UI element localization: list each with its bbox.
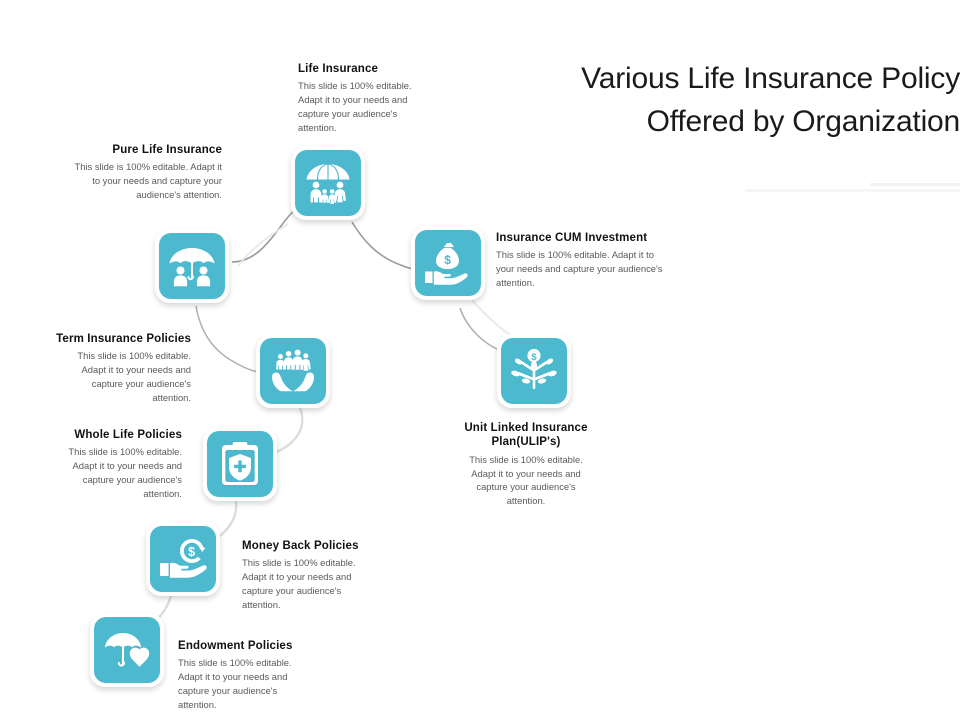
node-body-money-back-policies: This slide is 100% editable. Adapt it to… bbox=[242, 556, 382, 611]
node-body-unit-linked-insurance-plan: This slide is 100% editable. Adapt it to… bbox=[460, 453, 592, 508]
node-icon-pure-life-insurance[interactable] bbox=[155, 229, 229, 303]
node-icon-insurance-cum-investment[interactable]: $ bbox=[411, 226, 485, 300]
node-title-money-back-policies: Money Back Policies bbox=[242, 539, 382, 553]
umbrella-heart-icon bbox=[94, 617, 160, 683]
svg-text:$: $ bbox=[188, 545, 195, 559]
node-text-whole-life-policies: Whole Life Policies This slide is 100% e… bbox=[56, 428, 182, 501]
couple-umbrella-icon bbox=[159, 233, 225, 299]
node-icon-whole-life-policies[interactable] bbox=[203, 427, 277, 501]
hand-money-bag-icon: $ bbox=[415, 230, 481, 296]
slide-canvas: Various Life Insurance Policy Offered by… bbox=[0, 0, 960, 720]
node-body-insurance-cum-investment: This slide is 100% editable. Adapt it to… bbox=[496, 248, 666, 289]
clipboard-medical-shield-icon bbox=[207, 431, 273, 497]
family-umbrella-icon bbox=[295, 150, 361, 216]
money-plant-icon: $ bbox=[501, 338, 567, 404]
node-title-pure-life-insurance: Pure Life Insurance bbox=[74, 143, 222, 157]
node-icon-term-insurance-policies[interactable] bbox=[256, 334, 330, 408]
node-title-whole-life-policies: Whole Life Policies bbox=[56, 428, 182, 442]
node-body-life-insurance: This slide is 100% editable. Adapt it to… bbox=[298, 79, 438, 134]
node-icon-unit-linked-insurance-plan[interactable]: $ bbox=[497, 334, 571, 408]
node-body-term-insurance-policies: This slide is 100% editable. Adapt it to… bbox=[55, 349, 191, 404]
node-body-pure-life-insurance: This slide is 100% editable. Adapt it to… bbox=[74, 160, 222, 201]
node-body-whole-life-policies: This slide is 100% editable. Adapt it to… bbox=[56, 445, 182, 500]
node-text-term-insurance-policies: Term Insurance Policies This slide is 10… bbox=[55, 332, 191, 405]
node-text-pure-life-insurance: Pure Life Insurance This slide is 100% e… bbox=[74, 143, 222, 202]
node-icon-endowment-policies[interactable] bbox=[90, 613, 164, 687]
node-title-term-insurance-policies: Term Insurance Policies bbox=[55, 332, 191, 346]
hand-refund-coin-icon: $ bbox=[150, 526, 216, 592]
node-text-insurance-cum-investment: Insurance CUM Investment This slide is 1… bbox=[496, 231, 666, 290]
node-title-insurance-cum-investment: Insurance CUM Investment bbox=[496, 231, 666, 245]
node-body-endowment-policies: This slide is 100% editable. Adapt it to… bbox=[178, 656, 318, 711]
node-text-endowment-policies: Endowment Policies This slide is 100% ed… bbox=[178, 639, 318, 712]
hands-family-icon bbox=[260, 338, 326, 404]
node-icon-money-back-policies[interactable]: $ bbox=[146, 522, 220, 596]
svg-text:$: $ bbox=[444, 253, 451, 267]
node-text-unit-linked-insurance-plan: Unit Linked Insurance Plan(ULIP's) This … bbox=[460, 421, 592, 508]
node-title-life-insurance: Life Insurance bbox=[298, 62, 438, 76]
node-title-endowment-policies: Endowment Policies bbox=[178, 639, 318, 653]
node-text-money-back-policies: Money Back Policies This slide is 100% e… bbox=[242, 539, 382, 612]
node-title-unit-linked-insurance-plan: Unit Linked Insurance Plan(ULIP's) bbox=[460, 421, 592, 450]
node-text-life-insurance: Life Insurance This slide is 100% editab… bbox=[298, 62, 438, 135]
connector-pure-to-term bbox=[196, 306, 262, 373]
node-icon-life-insurance[interactable] bbox=[291, 146, 365, 220]
